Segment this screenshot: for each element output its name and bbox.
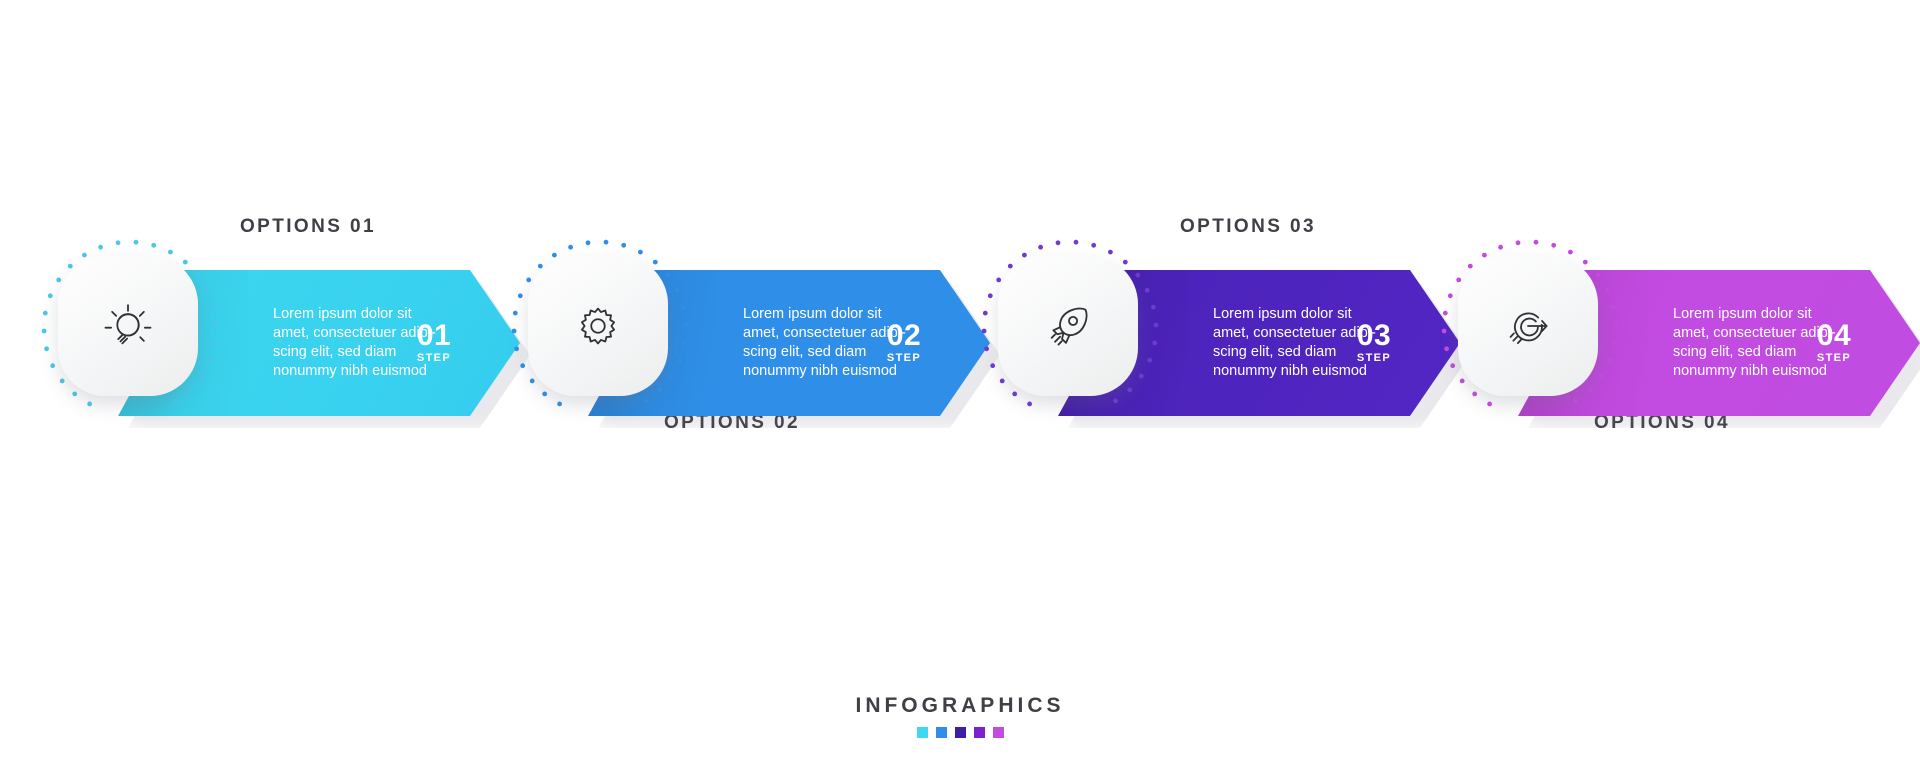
footer-swatch-5 xyxy=(993,727,1004,738)
footer-swatch-2 xyxy=(936,727,947,738)
step-item-1[interactable]: OPTIONS 01 Lorem ipsum dolor sit amet, c… xyxy=(50,238,520,448)
step-word-1: STEP xyxy=(406,351,462,365)
step-icon-badge-2[interactable] xyxy=(528,256,668,396)
step-number-1: 01 xyxy=(406,321,462,351)
footer-swatch-4 xyxy=(974,727,985,738)
step-item-3[interactable]: OPTIONS 03 Lorem ipsum dolor sit amet, c… xyxy=(990,238,1460,448)
gear-icon xyxy=(571,299,625,353)
step-word-4: STEP xyxy=(1806,351,1862,365)
option-label-3: OPTIONS 03 xyxy=(1180,216,1316,238)
lightbulb-icon xyxy=(101,299,155,353)
footer-swatch-3 xyxy=(955,727,966,738)
step-number-block-4: 04 STEP xyxy=(1806,321,1862,365)
footer-swatch-1 xyxy=(917,727,928,738)
step-number-block-2: 02 STEP xyxy=(876,321,932,365)
footer-title: INFOGRAPHICS xyxy=(0,694,1920,718)
step-number-2: 02 xyxy=(876,321,932,351)
target-arrow-icon xyxy=(1501,299,1555,353)
step-item-2[interactable]: OPTIONS 02 Lorem ipsum dolor sit amet, c… xyxy=(520,238,990,448)
step-number-3: 03 xyxy=(1346,321,1402,351)
option-label-1: OPTIONS 01 xyxy=(240,216,376,238)
step-item-4[interactable]: OPTIONS 04 Lorem ipsum dolor sit amet, c… xyxy=(1450,238,1920,448)
step-number-4: 04 xyxy=(1806,321,1862,351)
steps-row: OPTIONS 01 Lorem ipsum dolor sit amet, c… xyxy=(0,238,1920,448)
step-icon-badge-4[interactable] xyxy=(1458,256,1598,396)
rocket-icon xyxy=(1041,299,1095,353)
step-word-3: STEP xyxy=(1346,351,1402,365)
step-number-block-3: 03 STEP xyxy=(1346,321,1402,365)
step-icon-badge-1[interactable] xyxy=(58,256,198,396)
footer: INFOGRAPHICS xyxy=(0,694,1920,738)
step-word-2: STEP xyxy=(876,351,932,365)
infographic-canvas: OPTIONS 01 Lorem ipsum dolor sit amet, c… xyxy=(0,0,1920,768)
step-number-block-1: 01 STEP xyxy=(406,321,462,365)
step-icon-badge-3[interactable] xyxy=(998,256,1138,396)
footer-swatches xyxy=(0,727,1920,738)
